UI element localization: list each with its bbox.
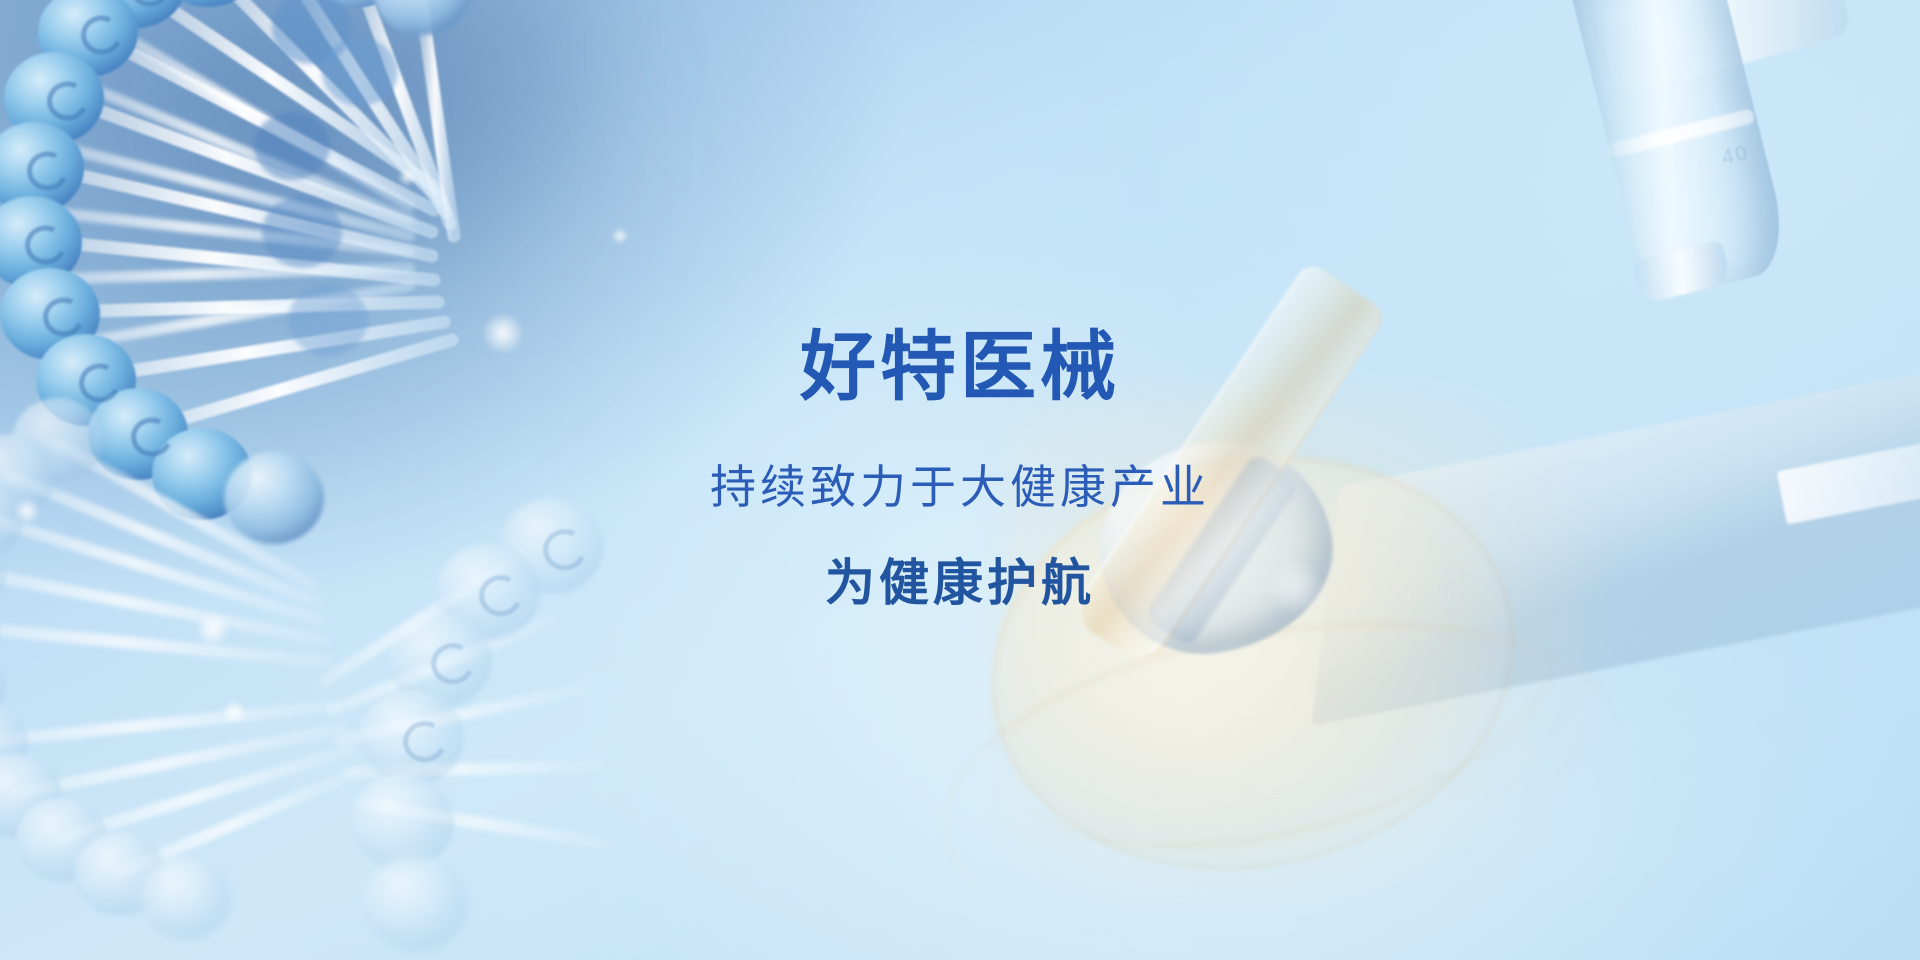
page-tagline: 为健康护航 — [0, 558, 1920, 608]
bokeh-dot — [398, 168, 416, 186]
bokeh-dot — [612, 228, 628, 244]
page-subtitle: 持续致力于大健康产业 — [0, 464, 1920, 510]
hero-banner: 40 — [0, 0, 1920, 960]
bokeh-dot — [196, 612, 230, 646]
bokeh-dot — [222, 700, 246, 724]
headline-block: 好特医械 持续致力于大健康产业 为健康护航 — [0, 330, 1920, 608]
page-title: 好特医械 — [0, 330, 1920, 406]
